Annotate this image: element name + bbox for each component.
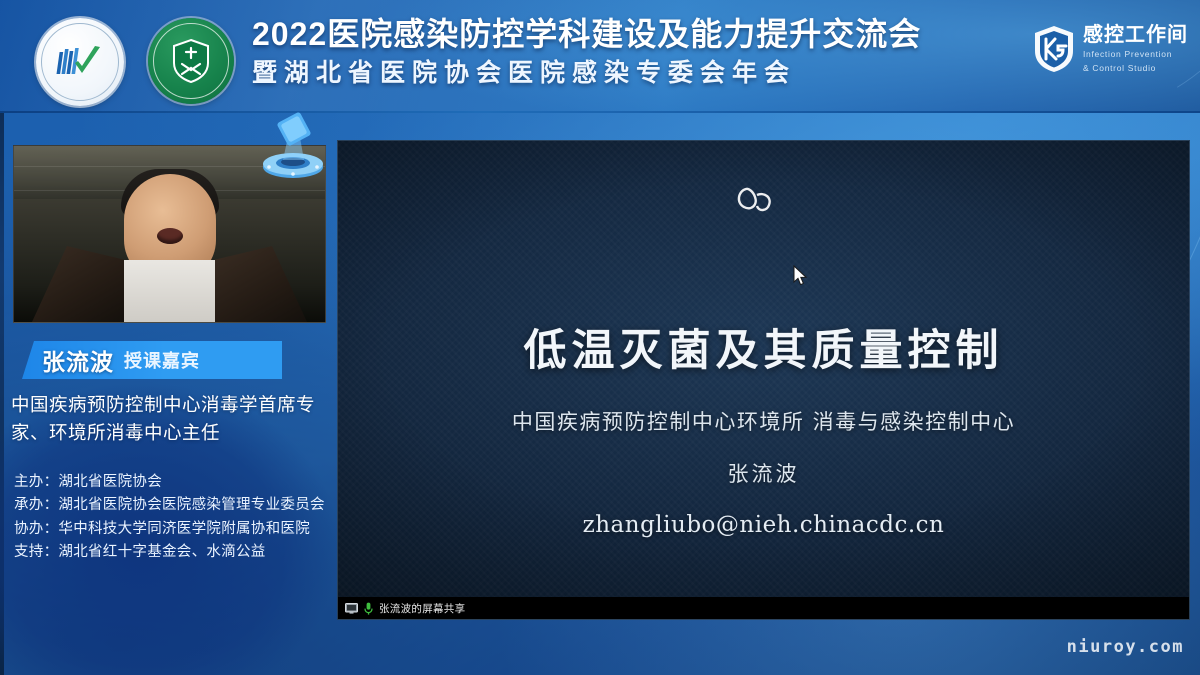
speaker-role: 授课嘉宾 xyxy=(124,347,200,373)
hubei-hospital-association-logo xyxy=(36,18,124,106)
speaker-name-badge: 张流波 授课嘉宾 xyxy=(22,341,282,379)
brand-name-cn: 感控工作间 xyxy=(1083,25,1188,46)
slide-email: zhangliubo@nieh.chinacdc.cn xyxy=(338,512,1189,538)
hologram-podium-icon xyxy=(255,110,331,184)
event-title-sub: 暨湖北省医院协会医院感染专委会年会 xyxy=(252,57,992,91)
logo-outer-ring xyxy=(153,23,229,99)
slide-organization: 中国疾病预防控制中心环境所 消毒与感染控制中心 xyxy=(338,406,1189,436)
brand-name-en-line1: Infection Prevention xyxy=(1083,49,1188,60)
organizer-organizer: 承办：湖北省医院协会医院感染管理专业委员会 xyxy=(14,494,326,517)
screen-share-status-bar: 张流波的屏幕共享 xyxy=(338,597,1190,619)
speaker-name: 张流波 xyxy=(42,343,114,377)
event-title-main: 2022医院感染防控学科建设及能力提升交流会 xyxy=(252,14,992,54)
brand-name-en-line2: & Control Studio xyxy=(1083,63,1188,74)
shield-kg-icon xyxy=(1032,24,1076,74)
shared-screen-slide[interactable]: 低温灭菌及其质量控制 中国疾病预防控制中心环境所 消毒与感染控制中心 张流波 z… xyxy=(337,140,1190,620)
slide-content: 低温灭菌及其质量控制 中国疾病预防控制中心环境所 消毒与感染控制中心 张流波 z… xyxy=(338,316,1189,538)
mouse-cursor-icon xyxy=(793,265,808,286)
organizer-list: 主办：湖北省医院协会 承办：湖北省医院协会医院感染管理专业委员会 协办：华中科技… xyxy=(14,471,326,565)
microphone-icon xyxy=(364,602,373,615)
speaker-bio: 中国疾病预防控制中心消毒学首席专家、环境所消毒中心主任 xyxy=(11,391,329,447)
webcam-person-mouth xyxy=(157,228,183,244)
broadcast-stage: 2022医院感染防控学科建设及能力提升交流会 暨湖北省医院协会医院感染专委会年会… xyxy=(0,0,1200,675)
speaker-sidebar: 张流波 授课嘉宾 中国疾病预防控制中心消毒学首席专家、环境所消毒中心主任 主办：… xyxy=(0,113,336,675)
wuhan-union-hospital-logo xyxy=(148,18,234,104)
slide-title: 低温灭菌及其质量控制 xyxy=(338,316,1189,378)
site-watermark: niuroy.com xyxy=(1067,637,1184,657)
logo-outer-ring xyxy=(41,23,119,101)
event-header-banner: 2022医院感染防控学科建设及能力提升交流会 暨湖北省医院协会医院感染专委会年会… xyxy=(0,0,1200,113)
slide-author: 张流波 xyxy=(338,458,1189,488)
event-title-block: 2022医院感染防控学科建设及能力提升交流会 暨湖北省医院协会医院感染专委会年会 xyxy=(252,14,992,91)
studio-brand: 感控工作间 Infection Prevention & Control Stu… xyxy=(1032,24,1188,75)
organizer-host: 主办：湖北省医院协会 xyxy=(14,471,326,494)
screen-share-label: 张流波的屏幕共享 xyxy=(379,601,465,616)
brand-text: 感控工作间 Infection Prevention & Control Stu… xyxy=(1083,24,1188,75)
monitor-icon xyxy=(345,603,358,614)
organizer-support: 支持：湖北省红十字基金会、水滴公益 xyxy=(14,541,326,564)
organizer-coorganizer: 协办：华中科技大学同济医学院附属协和医院 xyxy=(14,518,326,541)
